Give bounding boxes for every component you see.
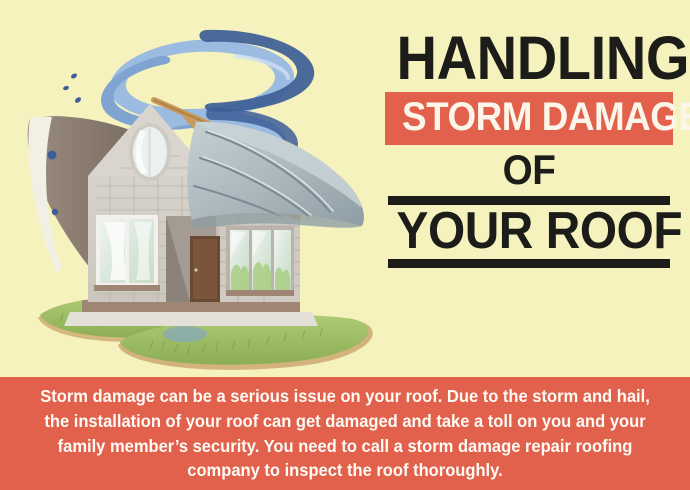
- divider-rule-bottom: [388, 259, 670, 268]
- tornado-damaging-house-illustration: [0, 0, 380, 378]
- attic-oval-window: [129, 123, 171, 181]
- front-window: [94, 215, 160, 291]
- body-paragraph: Storm damage can be a serious issue on y…: [37, 384, 653, 483]
- poster-root: HANDLING STORM DAMAGE OF YOUR ROOF Storm…: [0, 0, 690, 490]
- title-line-of: OF: [397, 151, 662, 190]
- entry-porch: [166, 216, 220, 302]
- title-line-your-roof: YOUR ROOF: [397, 208, 662, 256]
- side-window: [226, 226, 294, 296]
- title-line-handling: HANDLING: [397, 30, 662, 86]
- bottom-text-banner: Storm damage can be a serious issue on y…: [0, 377, 690, 490]
- title-line-storm-damage: STORM DAMAGE: [402, 99, 656, 136]
- title-block: HANDLING STORM DAMAGE OF YOUR ROOF: [385, 30, 673, 268]
- storm-damage-banner: STORM DAMAGE: [385, 92, 673, 145]
